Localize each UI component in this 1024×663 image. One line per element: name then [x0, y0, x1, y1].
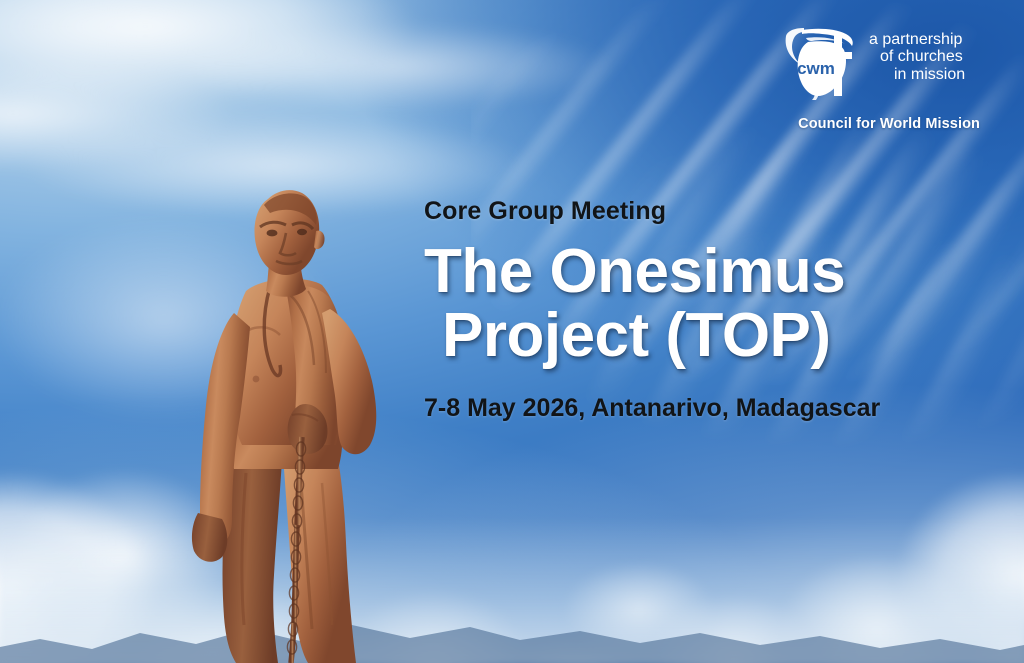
cwm-wordmark: cwm [797, 59, 835, 78]
statue-left-hand [192, 513, 227, 562]
cwm-organisation-name: Council for World Mission [782, 116, 982, 132]
event-title-line-1: The Onesimus [424, 237, 845, 306]
cwm-logo-icon: cwm [782, 26, 860, 100]
event-title-line-2: Project (TOP) [442, 304, 984, 368]
event-title: The Onesimus Project (TOP) [424, 240, 984, 369]
statue-legs [223, 439, 357, 663]
cwm-tagline-line-1: a partnership [869, 31, 965, 48]
meeting-kicker: Core Group Meeting [424, 198, 984, 226]
cwm-tagline-line-3: in mission [869, 66, 965, 83]
banner-copy: Core Group Meeting The Onesimus Project … [424, 198, 984, 423]
cwm-tagline-line-2: of churches [869, 48, 965, 65]
event-banner: Core Group Meeting The Onesimus Project … [0, 0, 1024, 663]
bronze-statue-figure [150, 183, 430, 663]
cwm-logo-block: cwm a partnership of churches in mission… [782, 26, 982, 132]
cwm-tagline: a partnership of churches in mission [869, 26, 965, 83]
event-date-location: 7-8 May 2026, Antanarivo, Madagascar [424, 394, 984, 423]
